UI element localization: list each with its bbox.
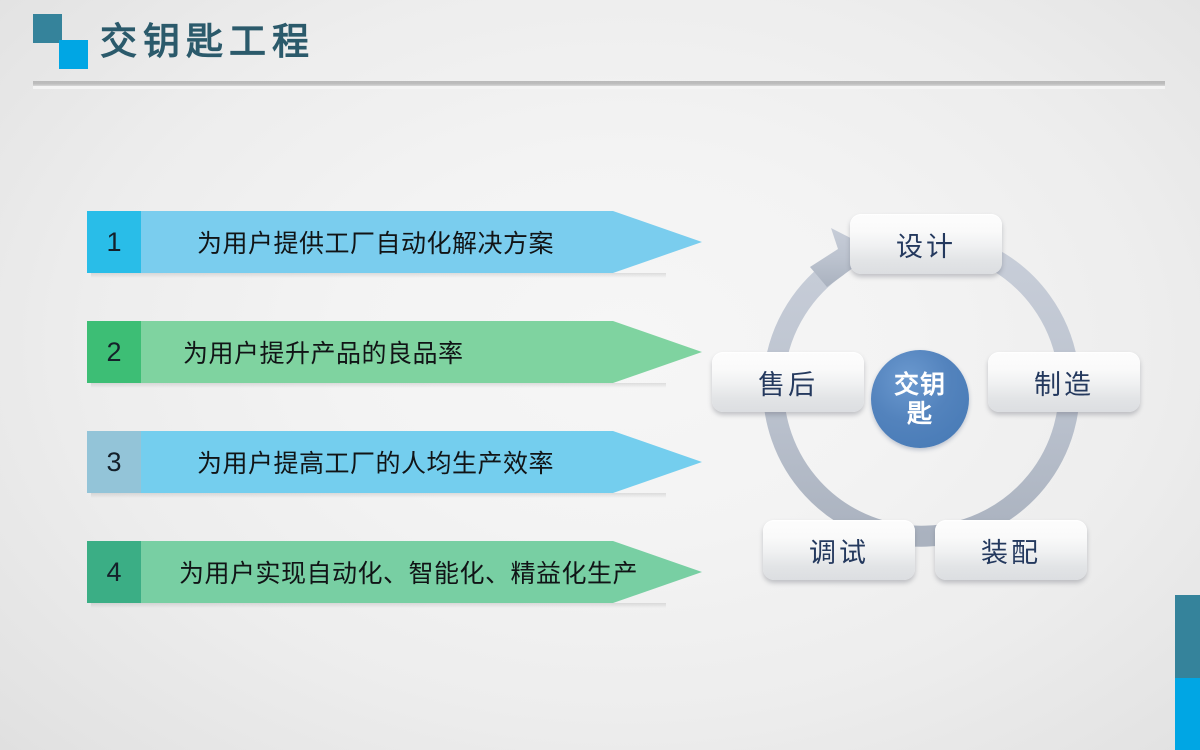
arrow-list: 1 为用户提供工厂自动化解决方案 2 为用户提升产品的良品率 3 bbox=[87, 211, 707, 606]
list-item[interactable]: 1 为用户提供工厂自动化解决方案 bbox=[87, 211, 702, 273]
arrow-number-box: 2 bbox=[87, 321, 141, 383]
arrow-number-box: 1 bbox=[87, 211, 141, 273]
arrow-label: 为用户实现自动化、智能化、精益化生产 bbox=[179, 541, 638, 603]
cycle-node-after-sales[interactable]: 售后 bbox=[712, 352, 864, 412]
cycle-node-label: 调试 bbox=[809, 531, 869, 570]
corner-accent-teal bbox=[1175, 595, 1200, 678]
cycle-node-design[interactable]: 设计 bbox=[850, 214, 1002, 274]
arrow-number: 1 bbox=[106, 227, 121, 258]
arrow-label: 为用户提供工厂自动化解决方案 bbox=[197, 211, 554, 273]
cycle-node-assembly[interactable]: 装配 bbox=[935, 520, 1087, 580]
list-item[interactable]: 4 为用户实现自动化、智能化、精益化生产 bbox=[87, 541, 702, 603]
slide-canvas: 交钥匙工程 1 为用户提供工厂自动化解决方案 2 为用户提升产品的良品率 bbox=[0, 0, 1200, 750]
header-divider-highlight bbox=[33, 86, 1165, 89]
arrow-label: 为用户提升产品的良品率 bbox=[183, 321, 464, 383]
cycle-diagram: 设计 制造 装配 调试 售后 交钥匙 bbox=[735, 195, 1165, 595]
page-title: 交钥匙工程 bbox=[100, 18, 315, 66]
arrow-label: 为用户提高工厂的人均生产效率 bbox=[197, 431, 554, 493]
cycle-center-label: 交钥匙 bbox=[892, 370, 948, 428]
cycle-node-debug[interactable]: 调试 bbox=[763, 520, 915, 580]
cycle-node-manufacturing[interactable]: 制造 bbox=[988, 352, 1140, 412]
corner-accent-blue bbox=[1175, 678, 1200, 750]
logo-square-bright-icon bbox=[59, 40, 88, 69]
cycle-node-label: 制造 bbox=[1034, 363, 1094, 402]
arrow-number-box: 4 bbox=[87, 541, 141, 603]
arrow-number-box: 3 bbox=[87, 431, 141, 493]
list-item[interactable]: 2 为用户提升产品的良品率 bbox=[87, 321, 702, 383]
arrow-number: 2 bbox=[106, 337, 121, 368]
arrow-number: 3 bbox=[106, 447, 121, 478]
cycle-node-label: 装配 bbox=[981, 531, 1041, 570]
logo-square-dark-icon bbox=[33, 14, 62, 43]
logo-squares bbox=[33, 14, 95, 70]
arrow-number: 4 bbox=[106, 557, 121, 588]
arrow-shadow bbox=[91, 273, 666, 278]
arrow-shadow bbox=[91, 383, 666, 388]
list-item[interactable]: 3 为用户提高工厂的人均生产效率 bbox=[87, 431, 702, 493]
cycle-center-circle[interactable]: 交钥匙 bbox=[871, 350, 969, 448]
arrow-shadow bbox=[91, 493, 666, 498]
cycle-node-label: 设计 bbox=[896, 225, 956, 264]
cycle-node-label: 售后 bbox=[758, 363, 818, 402]
arrow-shadow bbox=[91, 603, 666, 608]
